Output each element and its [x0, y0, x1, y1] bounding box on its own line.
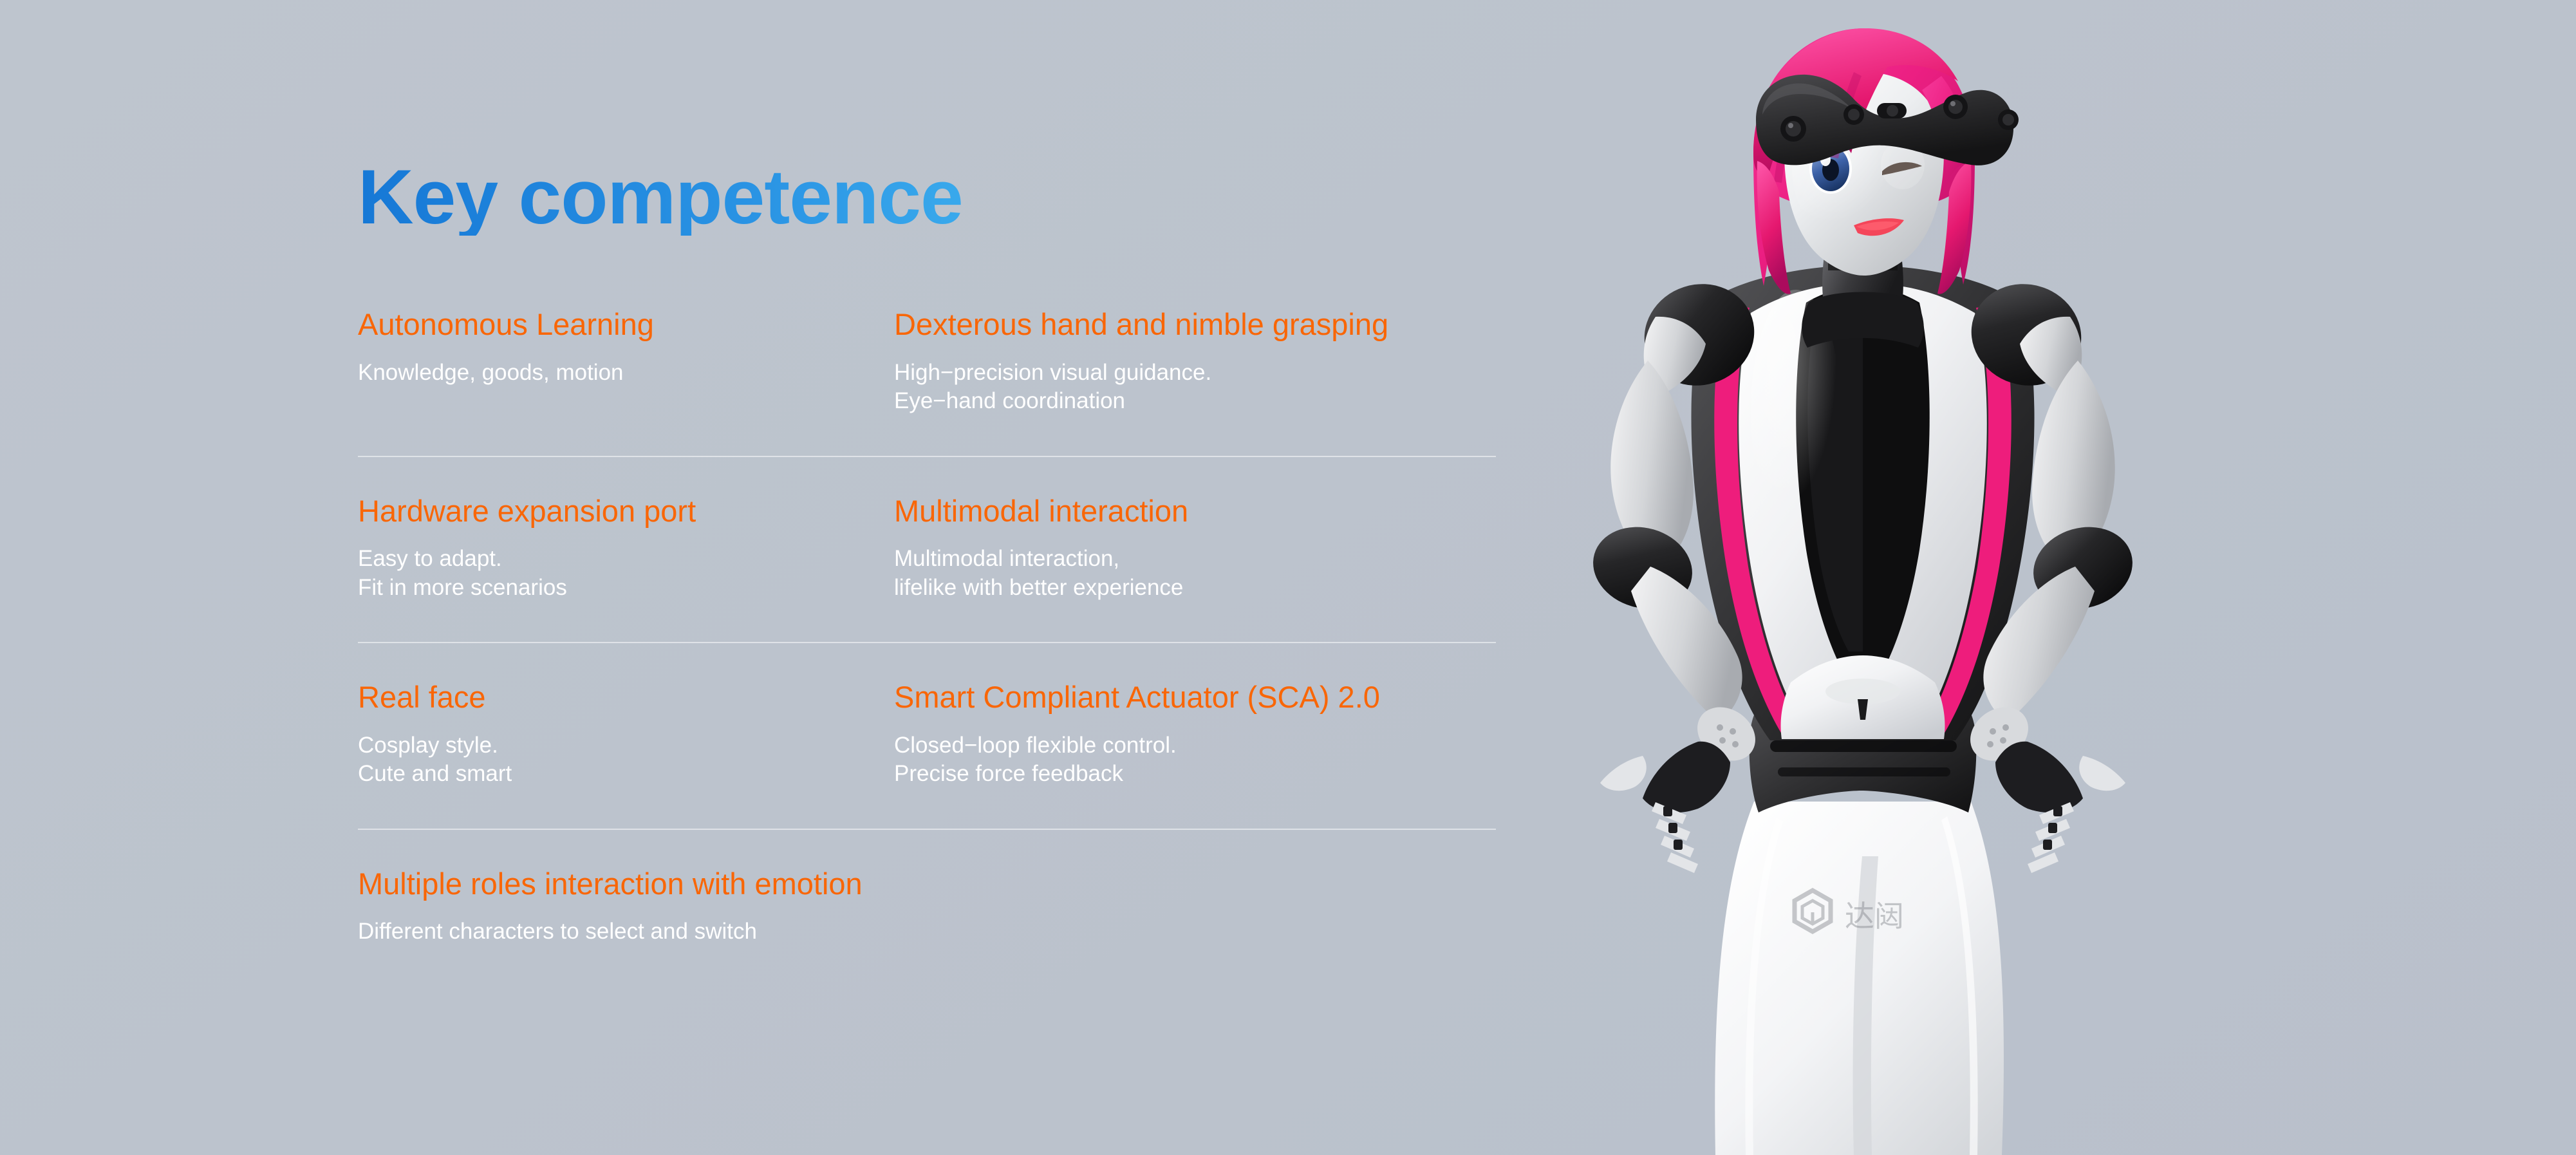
feature-row: Multiple roles interaction with emotion …: [358, 830, 1510, 946]
feature-item-dexterous-hand[interactable]: Dexterous hand and nimble grasping High−…: [894, 308, 1510, 416]
feature-body: Easy to adapt. Fit in more scenarios: [358, 545, 894, 602]
page-title: Key competence: [358, 158, 1510, 236]
feature-body: High−precision visual guidance. Eye−hand…: [894, 359, 1510, 416]
feature-item-autonomous-learning[interactable]: Autonomous Learning Knowledge, goods, mo…: [358, 308, 894, 416]
feature-body: Multimodal interaction, lifelike with be…: [894, 545, 1510, 602]
feature-row: Real face Cosplay style. Cute and smart …: [358, 643, 1510, 829]
feature-heading: Real face: [358, 681, 894, 715]
feature-item-multimodal-interaction[interactable]: Multimodal interaction Multimodal intera…: [894, 494, 1510, 603]
feature-heading: Smart Compliant Actuator (SCA) 2.0: [894, 681, 1510, 715]
feature-body: Knowledge, goods, motion: [358, 359, 894, 387]
feature-item-smart-compliant-actuator[interactable]: Smart Compliant Actuator (SCA) 2.0 Close…: [894, 681, 1510, 789]
feature-heading: Multiple roles interaction with emotion: [358, 867, 1510, 901]
feature-body: Different characters to select and switc…: [358, 917, 1510, 946]
feature-row: Autonomous Learning Knowledge, goods, mo…: [358, 308, 1510, 456]
robot-illustration: 达闼: [1493, 0, 2234, 1155]
feature-item-hardware-expansion-port[interactable]: Hardware expansion port Easy to adapt. F…: [358, 494, 894, 603]
feature-body: Cosplay style. Cute and smart: [358, 731, 894, 789]
content-panel: Key competence Autonomous Learning Knowl…: [358, 158, 1510, 946]
feature-row: Hardware expansion port Easy to adapt. F…: [358, 457, 1510, 643]
feature-heading: Multimodal interaction: [894, 494, 1510, 529]
feature-item-real-face[interactable]: Real face Cosplay style. Cute and smart: [358, 681, 894, 789]
robot-lower-body: [1715, 802, 2004, 1155]
robot-head: [1753, 28, 2019, 294]
feature-body: Closed−loop flexible control. Precise fo…: [894, 731, 1510, 789]
feature-heading: Autonomous Learning: [358, 308, 894, 342]
brand-logo-text: 达闼: [1845, 899, 1904, 934]
feature-item-multiple-roles-interaction[interactable]: Multiple roles interaction with emotion …: [358, 867, 1510, 946]
slide-background: Key competence Autonomous Learning Knowl…: [0, 0, 2576, 1155]
feature-grid: Autonomous Learning Knowledge, goods, mo…: [358, 308, 1510, 946]
feature-heading: Hardware expansion port: [358, 494, 894, 529]
feature-heading: Dexterous hand and nimble grasping: [894, 308, 1510, 342]
